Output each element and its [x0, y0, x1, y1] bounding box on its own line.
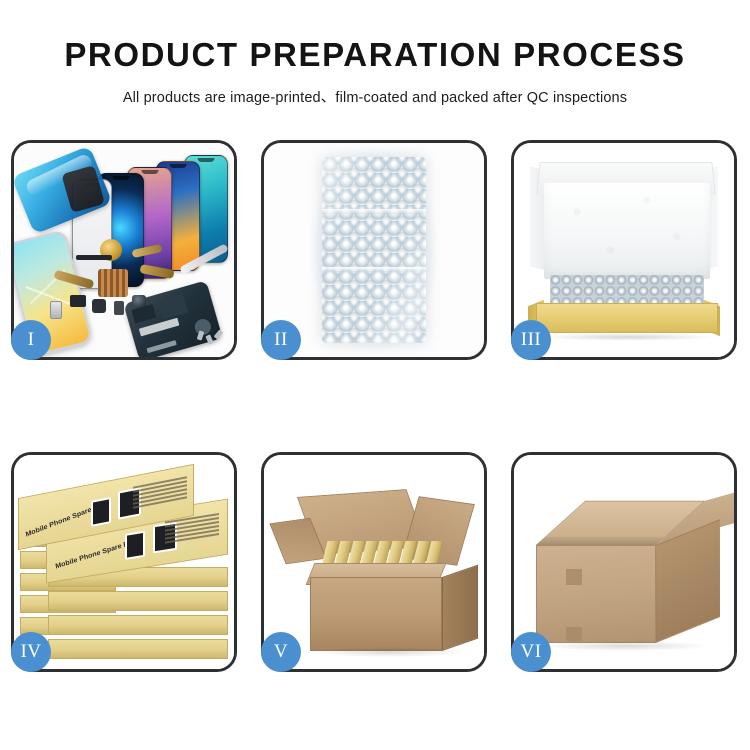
box-stack: Mobile Phone Spare Parts Mobile Phone Sp…: [18, 471, 232, 661]
board-battery: [158, 293, 189, 319]
box-edge: [48, 591, 228, 611]
carton-front-panel: [536, 545, 656, 643]
step-image-1: [14, 143, 234, 357]
open-kraft-box-image: [514, 143, 734, 357]
phone-notch-icon: [141, 170, 158, 174]
step-badge-2: II: [261, 320, 301, 360]
vibrator-part: [92, 299, 106, 313]
step-image-5: [264, 455, 484, 669]
carton-side-panel: [442, 565, 478, 651]
header: PRODUCT PREPARATION PROCESS All products…: [0, 0, 750, 107]
step-image-3: [514, 143, 734, 357]
open-carton-image: [264, 455, 484, 669]
box-front-panel: [536, 303, 718, 333]
stacked-boxes-image: Mobile Phone Spare Parts Mobile Phone Sp…: [14, 455, 234, 669]
step-panel-5: V: [261, 452, 487, 672]
carton-front-panel: [310, 577, 442, 651]
process-steps-grid: I II: [11, 140, 739, 680]
sealed-carton-image: [514, 455, 734, 669]
product-preparation-infographic: PRODUCT PREPARATION PROCESS All products…: [0, 0, 750, 750]
earpiece-mesh-part: [76, 255, 112, 260]
step-panel-4: Mobile Phone Spare Parts Mobile Phone Sp…: [11, 452, 237, 672]
box-edge: [48, 639, 228, 659]
carton-tab: [566, 569, 582, 585]
board-trace: [147, 340, 177, 353]
box-shadow: [540, 333, 716, 341]
box-edge: [48, 615, 228, 635]
carton-tab: [566, 627, 582, 641]
plastic-sheen: [322, 157, 426, 343]
screw-icon: [214, 329, 224, 339]
step-image-6: [514, 455, 734, 669]
screen-thumbnail: [91, 497, 111, 527]
carton-shadow: [314, 647, 464, 657]
screw-icon: [197, 330, 205, 340]
step-badge-6: VI: [511, 632, 551, 672]
chip-array-part: [98, 269, 128, 297]
phone-notch-icon: [112, 176, 129, 180]
step-badge-5: V: [261, 632, 301, 672]
step-badge-3: III: [511, 320, 551, 360]
step-panel-1: I: [11, 140, 237, 360]
step-panel-6: VI: [511, 452, 737, 672]
screws-group: [198, 329, 224, 349]
screw-icon: [205, 334, 213, 344]
sim-tray-part: [50, 301, 62, 319]
step-panel-2: II: [261, 140, 487, 360]
phone-notch-icon: [170, 164, 187, 168]
phone-notch-icon: [198, 158, 215, 162]
bubble-wrapped-contents: [550, 275, 704, 305]
carton-shadow: [540, 641, 710, 651]
camera-module-part: [132, 295, 146, 307]
packing-tape-strip: [536, 537, 665, 545]
step-panel-3: III: [511, 140, 737, 360]
bubble-wrap-image: [322, 157, 426, 343]
loudspeaker-part: [70, 295, 86, 307]
step-image-4: Mobile Phone Spare Parts Mobile Phone Sp…: [14, 455, 234, 669]
screen-thumbnail: [125, 531, 145, 560]
side-button-part: [114, 301, 124, 315]
step-image-2: [264, 143, 484, 357]
step-badge-1: I: [11, 320, 51, 360]
step-badge-4: IV: [11, 632, 51, 672]
page-title: PRODUCT PREPARATION PROCESS: [0, 36, 750, 74]
foam-padding: [544, 183, 710, 279]
page-subtitle: All products are image-printed、film-coat…: [0, 86, 750, 107]
